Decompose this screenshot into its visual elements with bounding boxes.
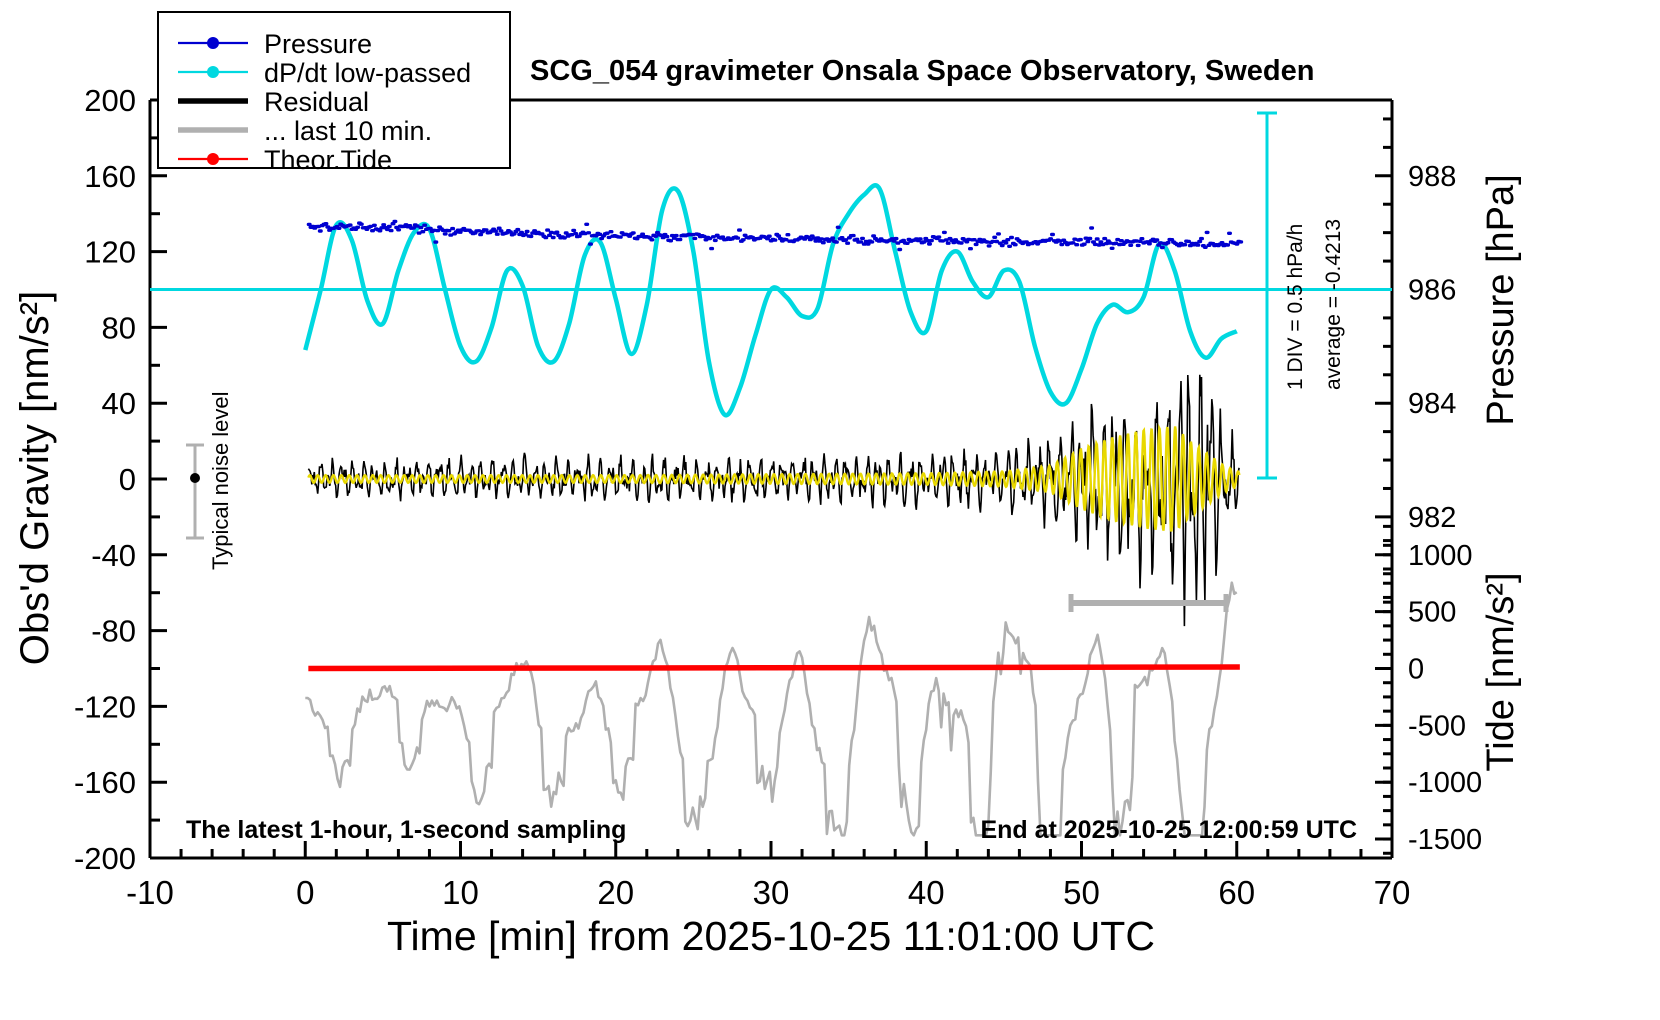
pressure-tick-label: 986: [1408, 275, 1456, 307]
y-tick-label: -200: [74, 841, 136, 876]
y-tick-label: 0: [119, 462, 136, 497]
y-tick-label: 80: [102, 310, 136, 345]
legend-label: Pressure: [264, 29, 372, 59]
y-tick-label: 160: [84, 159, 136, 194]
legend-label: ... last 10 min.: [264, 116, 432, 146]
x-tick-label: 70: [1374, 874, 1411, 911]
div-scale-label: 1 DIV = 0.5 hPa/h: [1284, 224, 1307, 390]
y-axis-label-pressure: Pressure [hPa]: [1480, 174, 1522, 425]
x-tick-label: 10: [442, 874, 479, 911]
footer-right-text: End at 2025-10-25 12:00:59 UTC: [980, 816, 1357, 844]
typical-noise-level-label: Typical noise level: [208, 391, 233, 570]
tide-tick-label: 1000: [1408, 540, 1473, 572]
y-tick-label: -80: [91, 614, 136, 649]
y-tick-label: 40: [102, 386, 136, 421]
tide-tick-label: -1500: [1408, 824, 1482, 856]
y-tick-label: 120: [84, 235, 136, 270]
tide-tick-label: 500: [1408, 597, 1456, 629]
dpdt-average-label: average = -0.4213: [1322, 219, 1345, 390]
legend-label: Theor.Tide: [264, 145, 392, 175]
x-tick-label: 20: [597, 874, 634, 911]
tide-tick-label: -500: [1408, 710, 1466, 742]
series-theor-tide: [308, 667, 1240, 669]
theor-tide-line: [308, 667, 1240, 669]
y-tick-label: -120: [74, 689, 136, 724]
chart-title: SCG_054 gravimeter Onsala Space Observat…: [530, 55, 1314, 87]
x-tick-label: -10: [126, 874, 174, 911]
footer-left-text: The latest 1-hour, 1-second sampling: [186, 816, 626, 844]
y-axis-label-left: Obs'd Gravity [nm/s²]: [13, 291, 57, 665]
legend-label: dP/dt low-passed: [264, 58, 471, 88]
tide-tick-label: 0: [1408, 654, 1424, 686]
legend[interactable]: PressuredP/dt low-passedResidual... last…: [158, 12, 510, 175]
x-tick-label: 50: [1063, 874, 1100, 911]
pressure-tick-label: 984: [1408, 388, 1456, 420]
legend-marker-dot: [207, 153, 219, 165]
tide-tick-label: -1000: [1408, 767, 1482, 799]
y-tick-label: -40: [91, 538, 136, 573]
x-tick-label: 30: [753, 874, 790, 911]
x-tick-label: 40: [908, 874, 945, 911]
pressure-tick-label: 988: [1408, 161, 1456, 193]
x-tick-label: 60: [1218, 874, 1255, 911]
pressure-tick-label: 982: [1408, 502, 1456, 534]
y-tick-label: -160: [74, 765, 136, 800]
gravimeter-timeseries-figure: 20016012080400-40-80-120-160-200 -100102…: [0, 0, 1660, 1020]
y-axis-label-tide: Tide [nm/s²]: [1480, 572, 1522, 771]
x-axis-label: Time [min] from 2025-10-25 11:01:00 UTC: [387, 913, 1155, 959]
y-tick-label: 200: [84, 83, 136, 118]
x-tick-label: 0: [296, 874, 314, 911]
legend-label: Residual: [264, 87, 369, 117]
chart-canvas: 20016012080400-40-80-120-160-200 -100102…: [0, 0, 1660, 1020]
legend-marker-dot: [207, 66, 219, 78]
legend-marker-dot: [207, 37, 219, 49]
